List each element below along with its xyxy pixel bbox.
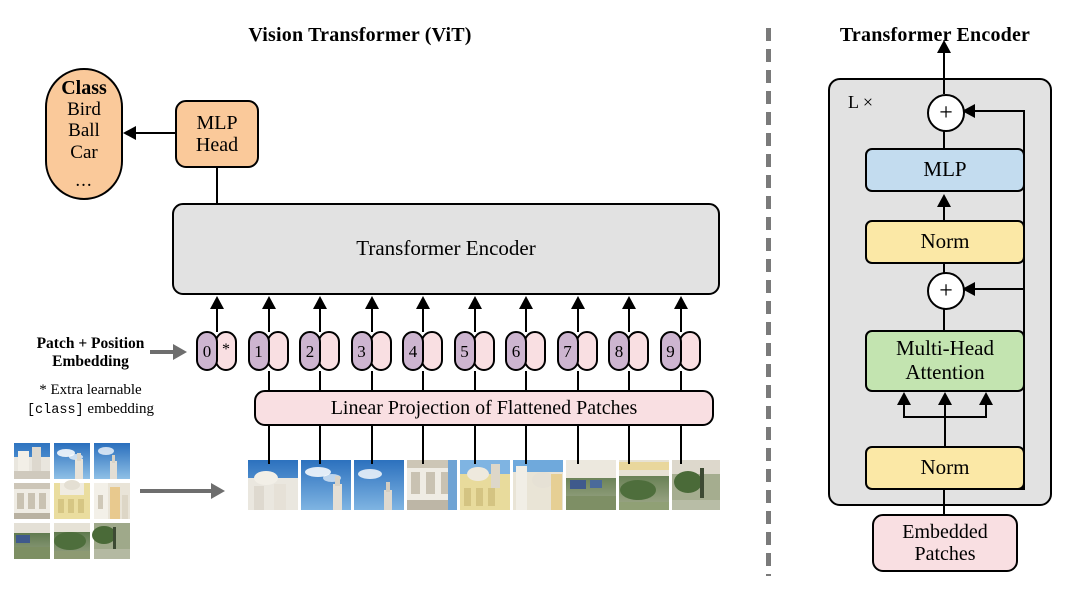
embedding-label-line1: Patch + Position [8, 335, 173, 353]
projection-to-token-line-8 [628, 371, 630, 390]
embedded-patches-line2: Patches [914, 543, 975, 565]
source-image-grid [14, 443, 130, 559]
token-embedding-pill-6 [524, 331, 546, 371]
projection-to-token-line-9 [680, 371, 682, 390]
token-to-encoder-line-8 [628, 308, 630, 332]
mha-line1: Multi-Head [896, 337, 994, 361]
token-to-encoder-arrowhead-7 [571, 296, 585, 309]
token-to-encoder-line-5 [474, 308, 476, 332]
patch-to-projection-line-5 [474, 426, 476, 464]
token-to-encoder-arrowhead-9 [674, 296, 688, 309]
qkv-mid-arrowhead [938, 392, 952, 405]
token-to-encoder-line-9 [680, 308, 682, 332]
token-embedding-pill-4 [421, 331, 443, 371]
patch-position-embedding-label: Patch + Position Embedding [8, 335, 173, 371]
source-image-svg [14, 443, 130, 559]
token-to-encoder-line-1 [268, 308, 270, 332]
patch-to-projection-line-3 [371, 426, 373, 464]
norm-top-label: Norm [921, 230, 970, 254]
mha-line2: Attention [905, 361, 984, 385]
residual-bottom-horizontal-low [943, 488, 1025, 490]
token-to-encoder-line-6 [525, 308, 527, 332]
projection-to-token-line-1 [268, 371, 270, 390]
linear-projection-box: Linear Projection of Flattened Patches [254, 390, 714, 426]
patch-to-projection-line-1 [268, 426, 270, 464]
token-to-encoder-arrowhead-6 [519, 296, 533, 309]
token-to-encoder-arrowhead-3 [365, 296, 379, 309]
residual-add-top: + [927, 94, 965, 132]
mlp-to-class-line [136, 132, 176, 134]
embedded-patches-line1: Embedded [902, 521, 988, 543]
residual-bottom-vertical [1023, 289, 1025, 489]
token-embedding-pill-8 [627, 331, 649, 371]
class-heading: Class [61, 77, 107, 99]
class-ellipsis: ... [75, 170, 92, 191]
token-group-2: 2 [299, 331, 340, 371]
embedding-label-line2: Embedding [8, 353, 173, 371]
embedding-pointer-stem [150, 350, 174, 354]
token-number-pill-3: 3 [351, 331, 373, 371]
token-group-3: 3 [351, 331, 392, 371]
projection-to-token-line-5 [474, 371, 476, 390]
norm-bottom-label: Norm [921, 456, 970, 480]
residual-top-vertical [1023, 111, 1025, 290]
token-number-pill-1: 1 [248, 331, 270, 371]
mlp-box: MLP [865, 148, 1025, 192]
linear-projection-label: Linear Projection of Flattened Patches [331, 397, 638, 419]
residual-add-bottom: + [927, 272, 965, 310]
token-group-4: 4 [402, 331, 443, 371]
qkv-right-arrowhead [979, 392, 993, 405]
mlp-box-label: MLP [923, 158, 966, 182]
right-panel-title: Transformer Encoder [800, 24, 1070, 47]
note-line2-rest: embedding [84, 401, 154, 417]
projection-to-token-line-4 [422, 371, 424, 390]
class-item-bird: Bird [67, 99, 101, 120]
transformer-encoder-box: Transformer Encoder [172, 203, 720, 295]
token-group-9: 9 [660, 331, 701, 371]
norm-top-to-mlp-arrowhead [937, 194, 951, 207]
token-embedding-pill-7 [576, 331, 598, 371]
token-number-pill-2: 2 [299, 331, 321, 371]
multi-head-attention-box: Multi-Head Attention [865, 330, 1025, 392]
token-embedding-pill-9 [679, 331, 701, 371]
token-embedding-pill-5 [473, 331, 495, 371]
token-to-encoder-arrowhead-1 [262, 296, 276, 309]
patch-to-projection-line-8 [628, 426, 630, 464]
note-line1: * Extra learnable [8, 381, 173, 400]
patch-to-projection-line-9 [680, 426, 682, 464]
residual-top-horizontal-high [975, 110, 1025, 112]
token-to-encoder-arrowhead-5 [468, 296, 482, 309]
class-token-literal: [class] [27, 403, 84, 418]
residual-bottom-horizontal-high [975, 288, 1025, 290]
class-item-car: Car [70, 142, 97, 163]
token-embedding-pill-2 [318, 331, 340, 371]
token-number-pill-0: 0 [196, 331, 218, 371]
patch-to-projection-line-4 [422, 426, 424, 464]
token-to-encoder-line-3 [371, 308, 373, 332]
patch-to-projection-line-2 [319, 426, 321, 464]
norm-bottom-box: Norm [865, 446, 1025, 490]
mlp-to-class-arrowhead [123, 126, 136, 140]
repeat-count-label: L × [848, 92, 873, 113]
residual-add-bottom-symbol: + [939, 279, 953, 303]
norm-top-box: Norm [865, 220, 1025, 264]
transformer-encoder-label: Transformer Encoder [356, 237, 535, 261]
token-to-encoder-line-4 [422, 308, 424, 332]
token-group-6: 6 [505, 331, 546, 371]
token-number-pill-7: 7 [557, 331, 579, 371]
mlp-head-stem [216, 168, 218, 204]
token-group-1: 1 [248, 331, 289, 371]
embedding-pointer-arrowhead [173, 344, 187, 360]
encoder-output-arrowhead [937, 40, 951, 53]
qkv-left-arrowhead [897, 392, 911, 405]
token-to-encoder-line-0 [216, 308, 218, 332]
flattened-patch-strip [248, 460, 720, 512]
token-embedding-pill-3 [370, 331, 392, 371]
mlp-head-line1: MLP [196, 112, 237, 134]
token-number-pill-8: 8 [608, 331, 630, 371]
token-to-encoder-arrowhead-2 [313, 296, 327, 309]
token-group-7: 7 [557, 331, 598, 371]
patch-to-projection-line-7 [577, 426, 579, 464]
qkv-center-stem [944, 418, 946, 446]
patch-strip-svg [248, 460, 720, 512]
class-item-ball: Ball [68, 120, 100, 141]
grid-to-strip-arrowhead [211, 483, 225, 499]
token-to-encoder-arrowhead-0 [210, 296, 224, 309]
token-embedding-pill-0: * [215, 331, 237, 371]
patch-to-projection-line-6 [525, 426, 527, 464]
extra-learnable-note: * Extra learnable [class] embedding [8, 381, 173, 420]
panel-divider [766, 28, 771, 576]
token-number-pill-4: 4 [402, 331, 424, 371]
token-group-0: 0* [196, 331, 237, 371]
mlp-head-box: MLP Head [175, 100, 259, 168]
token-number-pill-5: 5 [454, 331, 476, 371]
note-line2: [class] embedding [8, 400, 173, 420]
class-output-box: Class Bird Ball Car ... [45, 68, 123, 200]
token-to-encoder-line-2 [319, 308, 321, 332]
token-to-encoder-line-7 [577, 308, 579, 332]
grid-to-strip-stem [140, 489, 212, 493]
projection-to-token-line-2 [319, 371, 321, 390]
embedded-patches-box: Embedded Patches [872, 514, 1018, 572]
token-to-encoder-arrowhead-8 [622, 296, 636, 309]
residual-add-top-symbol: + [939, 101, 953, 125]
token-number-pill-6: 6 [505, 331, 527, 371]
left-panel-title: Vision Transformer (ViT) [185, 24, 535, 47]
mlp-head-line2: Head [196, 134, 238, 156]
token-embedding-pill-1 [267, 331, 289, 371]
token-group-5: 5 [454, 331, 495, 371]
projection-to-token-line-3 [371, 371, 373, 390]
token-to-encoder-arrowhead-4 [416, 296, 430, 309]
vit-architecture-diagram: Vision Transformer (ViT) Class Bird Ball… [0, 0, 1080, 593]
projection-to-token-line-6 [525, 371, 527, 390]
token-number-pill-9: 9 [660, 331, 682, 371]
token-group-8: 8 [608, 331, 649, 371]
projection-to-token-line-7 [577, 371, 579, 390]
